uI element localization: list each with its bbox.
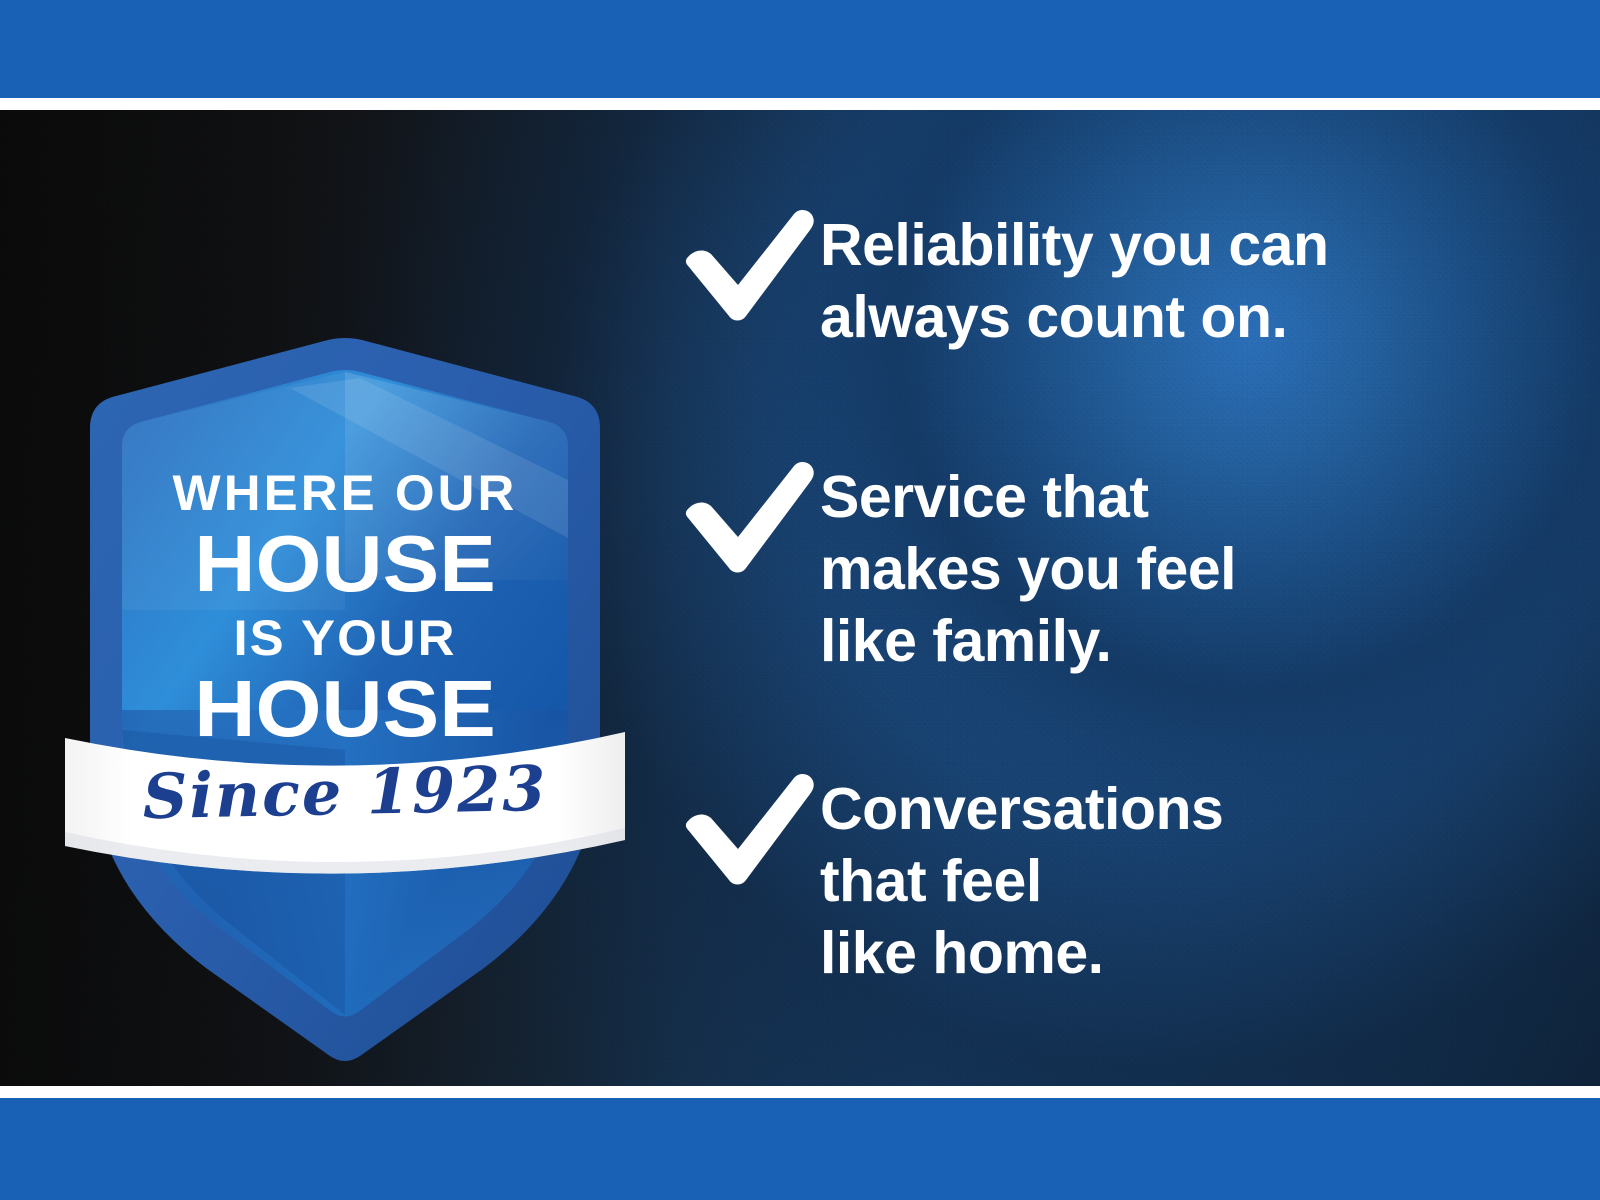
benefit-item: Service that makes you feel like family. — [670, 457, 1530, 677]
benefit-text: Service that makes you feel like family. — [820, 457, 1530, 677]
benefit-item: Conversations that feel like home. — [670, 769, 1530, 989]
benefit-text: Reliability you can always count on. — [820, 205, 1530, 353]
benefit-text: Conversations that feel like home. — [820, 769, 1530, 989]
checkmark-icon — [670, 769, 820, 889]
top-white-divider — [0, 98, 1600, 110]
benefit-item: Reliability you can always count on. — [670, 205, 1530, 353]
bottom-brand-bar — [0, 1098, 1600, 1200]
promo-graphic: WHERE OUR HOUSE IS YOUR HOUSE Since 1923… — [0, 0, 1600, 1200]
checkmark-icon — [670, 205, 820, 325]
benefits-list: Reliability you can always count on. Ser… — [670, 205, 1530, 989]
shield-graphic — [60, 280, 630, 1070]
main-panel: WHERE OUR HOUSE IS YOUR HOUSE Since 1923… — [0, 110, 1600, 1086]
checkmark-icon — [670, 457, 820, 577]
bottom-white-divider — [0, 1086, 1600, 1098]
shield-badge: WHERE OUR HOUSE IS YOUR HOUSE Since 1923 — [60, 280, 630, 1070]
top-brand-bar — [0, 0, 1600, 98]
